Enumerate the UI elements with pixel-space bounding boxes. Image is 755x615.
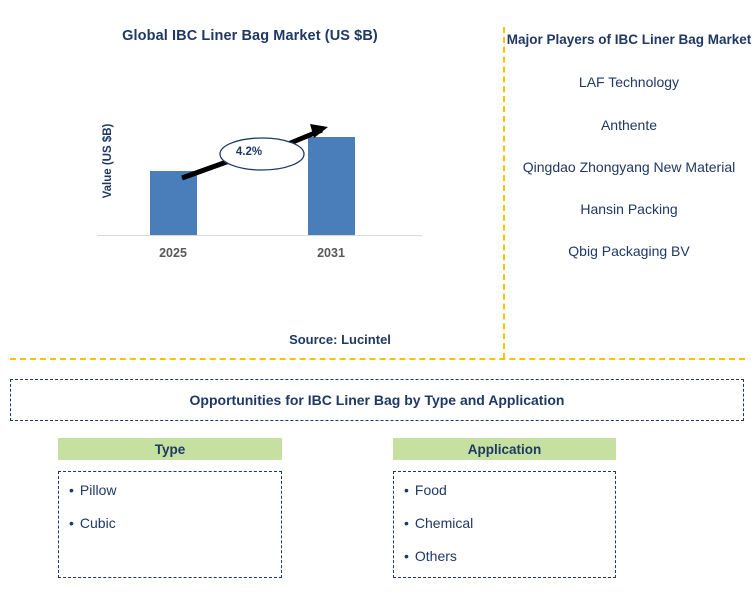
cagr-value-label: 4.2%: [207, 146, 291, 158]
segment-body-type: •Pillow •Cubic: [58, 471, 282, 578]
bullet-icon: •: [69, 482, 74, 498]
list-item: •Food: [404, 482, 615, 499]
list-item-label: Others: [415, 548, 457, 564]
list-item-label: Food: [415, 482, 447, 498]
player-item: Qingdao Zhongyang New Material: [505, 157, 753, 177]
x-tick-2025: 2025: [133, 246, 213, 260]
segment-body-application: •Food •Chemical •Others: [393, 471, 616, 578]
player-item: Anthente: [505, 115, 753, 135]
major-players-panel: Major Players of IBC Liner Bag Market LA…: [505, 30, 753, 262]
player-item: Hansin Packing: [505, 199, 753, 219]
list-item: •Pillow: [69, 482, 281, 499]
opportunities-title: Opportunities for IBC Liner Bag by Type …: [190, 392, 565, 408]
list-item-label: Cubic: [80, 515, 116, 531]
bullet-icon: •: [404, 548, 409, 564]
y-axis-label: Value (US $B): [102, 106, 114, 216]
x-tick-2031: 2031: [291, 246, 371, 260]
source-label: Source: Lucintel: [180, 332, 500, 347]
bar-chart: Value (US $B) 2025 2031: [85, 110, 425, 260]
segment-header-application: Application: [393, 438, 616, 460]
x-axis-line: [97, 235, 422, 237]
list-item: •Cubic: [69, 515, 281, 532]
bullet-icon: •: [69, 515, 74, 531]
player-item: Qbig Packaging BV: [505, 241, 753, 261]
bullet-icon: •: [404, 482, 409, 498]
horizontal-divider: [10, 358, 745, 360]
major-players-title: Major Players of IBC Liner Bag Market: [505, 30, 753, 50]
list-item-label: Pillow: [80, 482, 117, 498]
segment-header-type: Type: [58, 438, 282, 460]
player-item: LAF Technology: [505, 72, 753, 92]
list-item-label: Chemical: [415, 515, 473, 531]
list-item: •Others: [404, 548, 615, 565]
bullet-icon: •: [404, 515, 409, 531]
chart-title: Global IBC Liner Bag Market (US $B): [0, 28, 500, 44]
opportunities-banner: Opportunities for IBC Liner Bag by Type …: [10, 379, 744, 421]
list-item: •Chemical: [404, 515, 615, 532]
